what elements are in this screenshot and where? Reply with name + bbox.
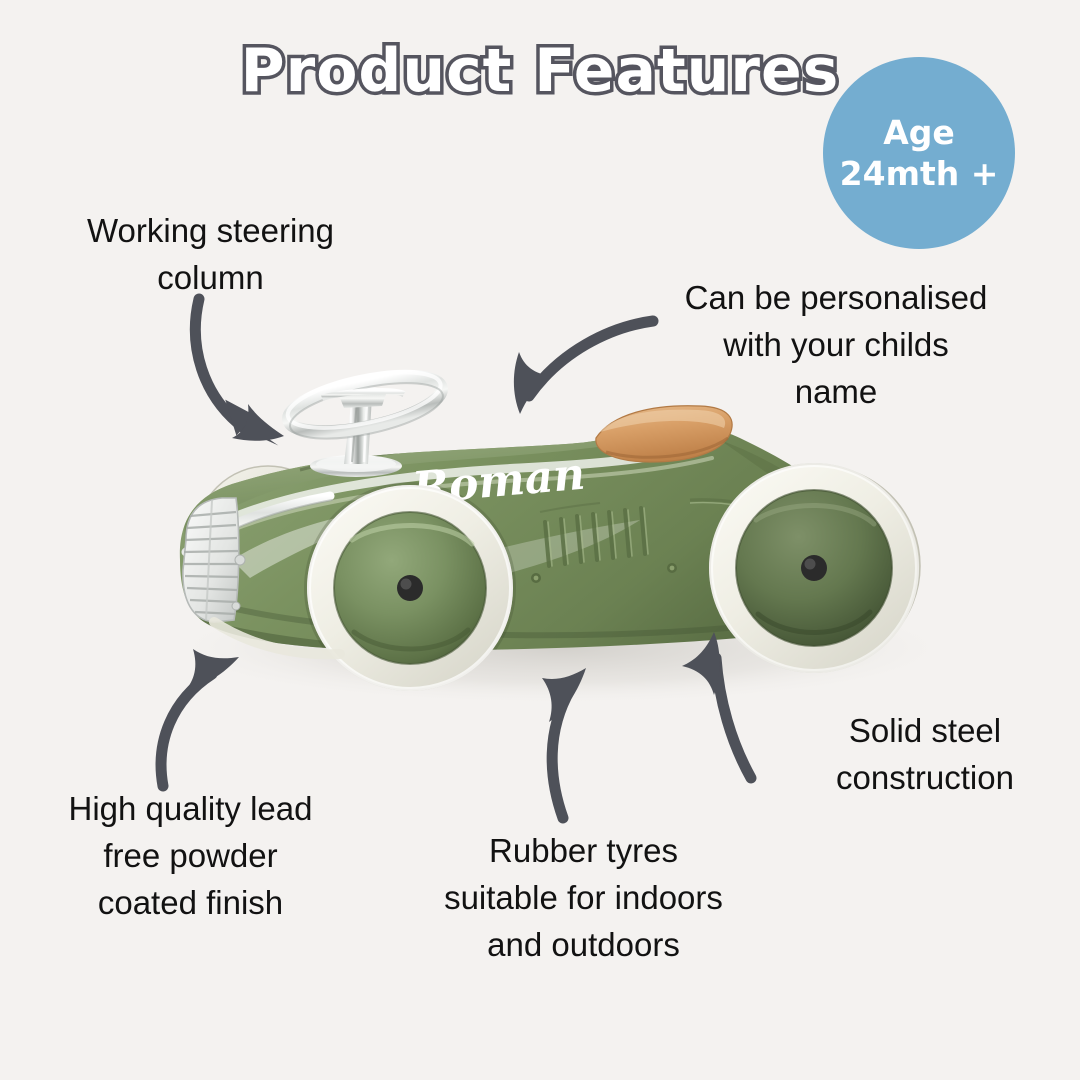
callout-label-personalised: Can be personalised with your childs nam… <box>636 275 1036 416</box>
callout-label-steering: Working steering column <box>28 208 393 302</box>
product-features-infographic: Product Features Age 24mth + <box>0 0 1080 1080</box>
front-wheel <box>308 486 512 690</box>
callout-label-powder-coat: High quality lead free powder coated fin… <box>18 786 363 927</box>
rear-wheel <box>710 464 918 672</box>
callout-label-rubber-tyres: Rubber tyres suitable for indoors and ou… <box>396 828 771 969</box>
front-grille <box>183 498 245 622</box>
callout-label-solid-steel: Solid steel construction <box>780 708 1070 802</box>
